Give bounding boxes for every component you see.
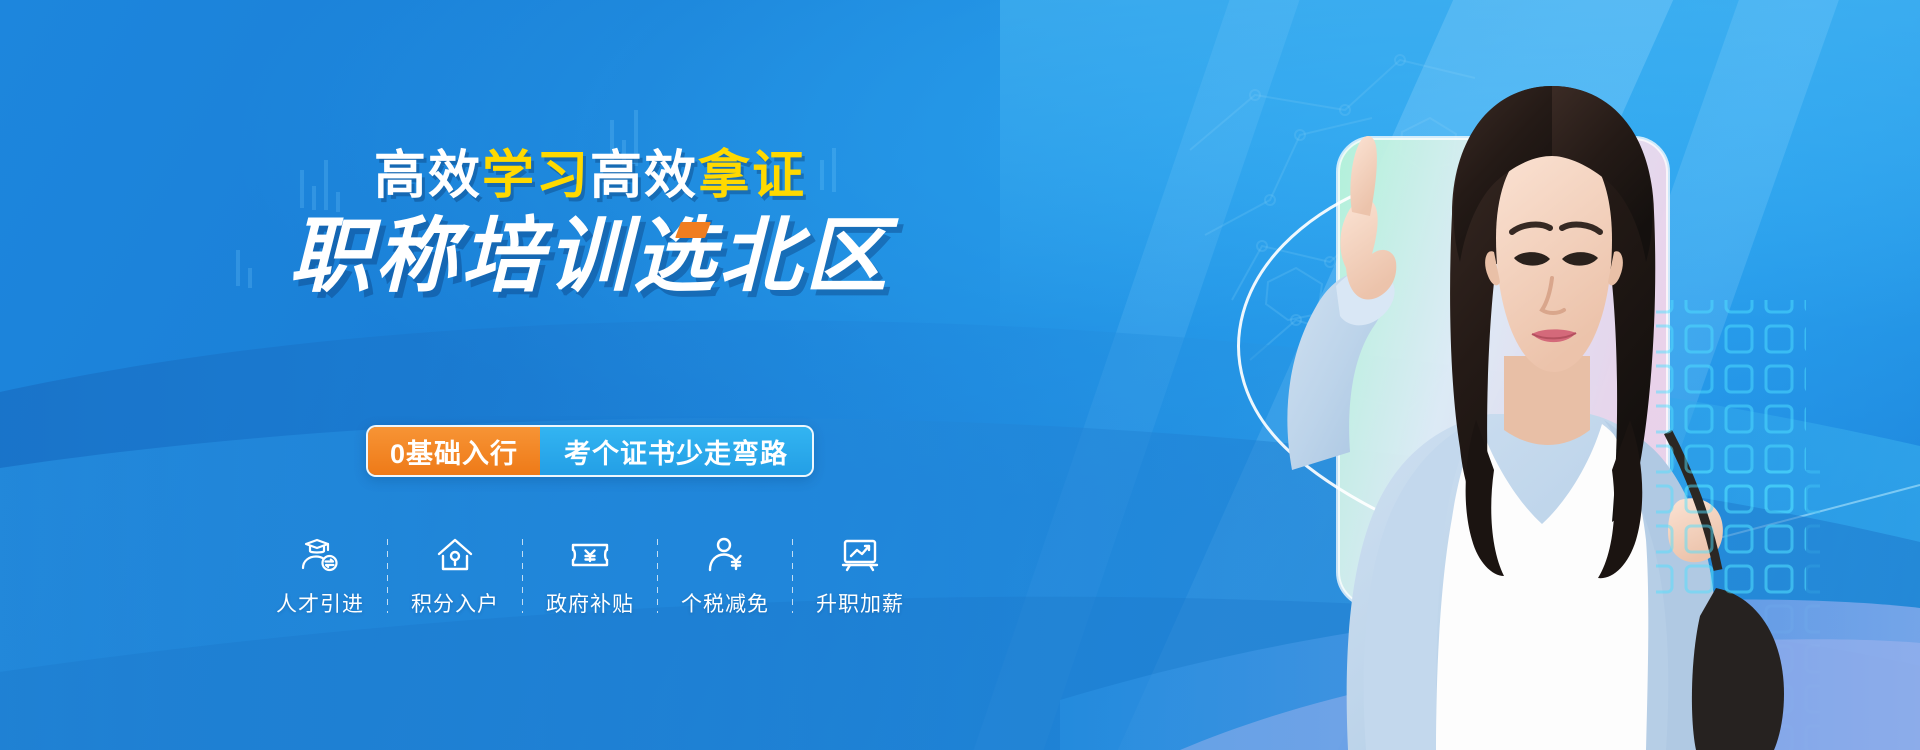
orange-accent-mark-icon	[675, 222, 711, 238]
headline-part-3: 高效	[590, 147, 698, 205]
tagline-row: 0基础入行 考个证书少走弯路	[0, 425, 1180, 477]
house-pin-icon	[433, 535, 477, 575]
feature-label: 政府补贴	[546, 588, 634, 618]
feature-list: 人才引进 积分入户	[0, 535, 1180, 618]
tagline-text: 考个证书少走弯路	[540, 427, 812, 475]
feature-item-government-subsidy[interactable]: 政府补贴	[523, 535, 657, 618]
feature-label: 人才引进	[276, 588, 364, 618]
ticket-yuan-icon	[568, 535, 612, 575]
promo-banner: 高效学习高效拿证 职称培训选北区 0基础入行 考个证书少走弯路	[0, 0, 1920, 750]
headline-line-1: 高效学习高效拿证	[0, 150, 1180, 202]
headline-part-2: 学习	[482, 147, 590, 205]
tagline-badge: 0基础入行	[368, 427, 540, 475]
headline-line-2-text: 职称培训选北区	[289, 211, 891, 302]
headline-part-4: 拿证	[698, 147, 806, 205]
feature-item-promotion-raise[interactable]: 升职加薪	[793, 535, 927, 618]
headline-part-1: 高效	[374, 147, 482, 205]
person-yuan-icon	[703, 535, 747, 575]
feature-item-points-residency[interactable]: 积分入户	[388, 535, 522, 618]
feature-label: 个税减免	[681, 588, 769, 618]
graduate-person-icon	[298, 535, 342, 575]
headline-line-2: 职称培训选北区	[289, 216, 891, 298]
hero-figure	[1160, 0, 1920, 750]
hero-figure-illustration	[1160, 0, 1920, 750]
feature-label: 积分入户	[411, 588, 499, 618]
headline-block: 高效学习高效拿证 职称培训选北区	[0, 150, 1180, 298]
feature-label: 升职加薪	[816, 588, 904, 618]
feature-item-tax-reduction[interactable]: 个税减免	[658, 535, 792, 618]
feature-item-talent-introduction[interactable]: 人才引进	[253, 535, 387, 618]
growth-chart-board-icon	[838, 535, 882, 575]
banner-content: 高效学习高效拿证 职称培训选北区 0基础入行 考个证书少走弯路	[0, 0, 1180, 750]
tagline-pill[interactable]: 0基础入行 考个证书少走弯路	[366, 425, 814, 477]
